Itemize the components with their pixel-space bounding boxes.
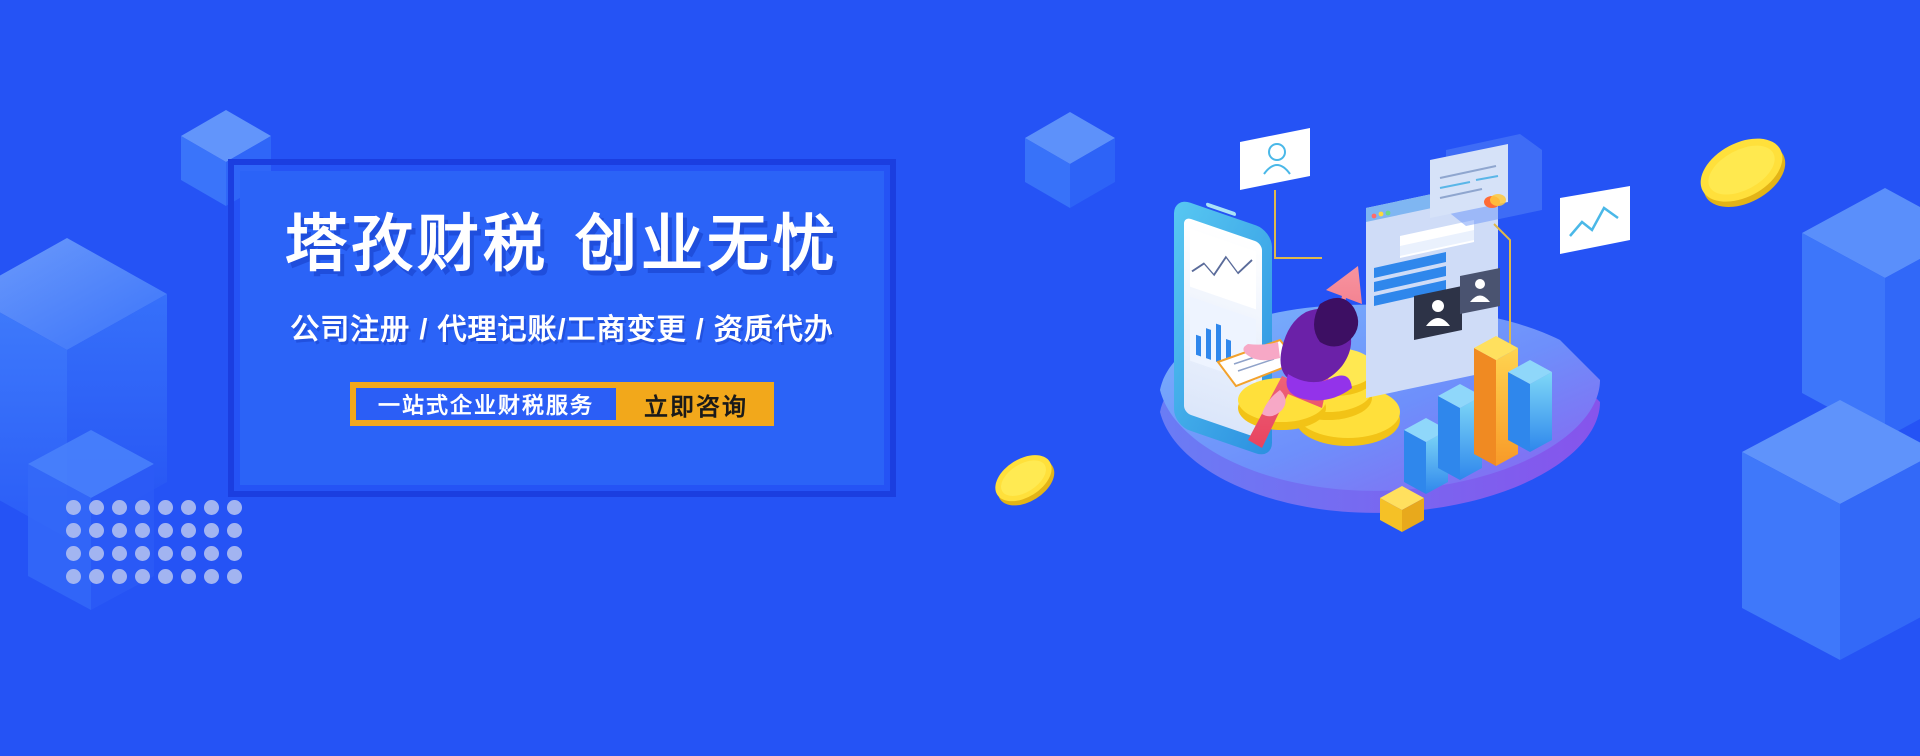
gold-coin-large — [1690, 128, 1794, 214]
dot-grid-decoration — [66, 500, 250, 592]
cta-tag-badge: 一站式企业财税服务 — [356, 388, 616, 420]
cta-bar: 一站式企业财税服务 立即咨询 — [350, 382, 774, 426]
isometric-block-right-upper — [1800, 188, 1920, 438]
headline-left-text: 塔孜财税 — [285, 210, 549, 279]
services-subtitle: 公司注册 / 代理记账/工商变更 / 资质代办 — [290, 306, 833, 348]
hero-content: 塔孜财税创业无忧 公司注册 / 代理记账/工商变更 / 资质代办 一站式企业财税… — [228, 159, 896, 497]
headline-right-text: 创业无忧 — [575, 210, 839, 279]
line-chart-card — [1560, 186, 1630, 254]
consult-now-button[interactable]: 立即咨询 — [616, 382, 774, 426]
isometric-cube-right — [1022, 110, 1118, 210]
gold-coin-small — [988, 448, 1060, 510]
isometric-block-left-lower — [26, 430, 156, 610]
page-title: 塔孜财税创业无忧 — [285, 214, 839, 276]
isometric-business-analytics-illustration — [1130, 90, 1670, 590]
promo-banner: 塔孜财税创业无忧 公司注册 / 代理记账/工商变更 / 资质代办 一站式企业财税… — [0, 0, 1920, 756]
isometric-block-left — [0, 238, 172, 538]
isometric-block-right-lower — [1740, 400, 1920, 660]
